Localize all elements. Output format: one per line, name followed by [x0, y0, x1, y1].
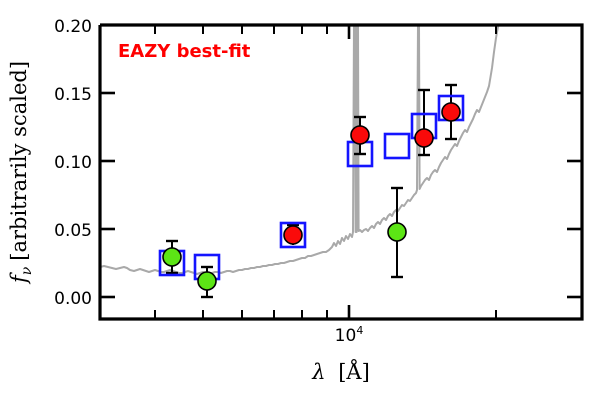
y-axis-subscript: ν	[19, 266, 35, 275]
y-tick-label: 0.15	[54, 85, 92, 105]
model-photometry-square	[385, 134, 409, 158]
y-tick-label: 0.10	[54, 153, 92, 173]
observed-photometry-point	[284, 226, 302, 244]
eazy-best-fit-annotation: EAZY best-fit	[118, 41, 251, 62]
y-axis-tick-labels: 0.20 0.15 0.10 0.05 0.00	[54, 17, 92, 309]
sed-plot: 0.20 0.15 0.10 0.05 0.00 104 λ [Å] fν[ar…	[0, 0, 600, 400]
y-axis-title: fν[arbitrarily scaled]	[7, 61, 35, 285]
observed-photometry-point	[388, 223, 406, 241]
y-tick-label: 0.00	[54, 289, 92, 309]
observed-photometry-point	[415, 129, 433, 147]
y-tick-label: 0.20	[54, 17, 92, 37]
observed-photometry-point	[442, 103, 460, 121]
observed-photometry-point	[163, 248, 181, 266]
x-axis-title: λ [Å]	[311, 359, 370, 384]
figure-root: 0.20 0.15 0.10 0.05 0.00 104 λ [Å] fν[ar…	[0, 0, 600, 400]
x-axis-tick-labels: 104	[335, 324, 364, 346]
observed-photometry-point	[198, 272, 216, 290]
x-axis-unit: [Å]	[338, 359, 370, 384]
y-tick-label: 0.05	[54, 221, 92, 241]
error-bars-group	[166, 85, 457, 297]
x-axis-symbol: λ	[311, 360, 325, 384]
x-tick-label: 104	[335, 324, 364, 346]
observed-photometry-point	[351, 126, 369, 144]
y-axis-unit: [arbitrarily scaled]	[7, 61, 31, 261]
observed-photometry-group	[163, 103, 460, 290]
